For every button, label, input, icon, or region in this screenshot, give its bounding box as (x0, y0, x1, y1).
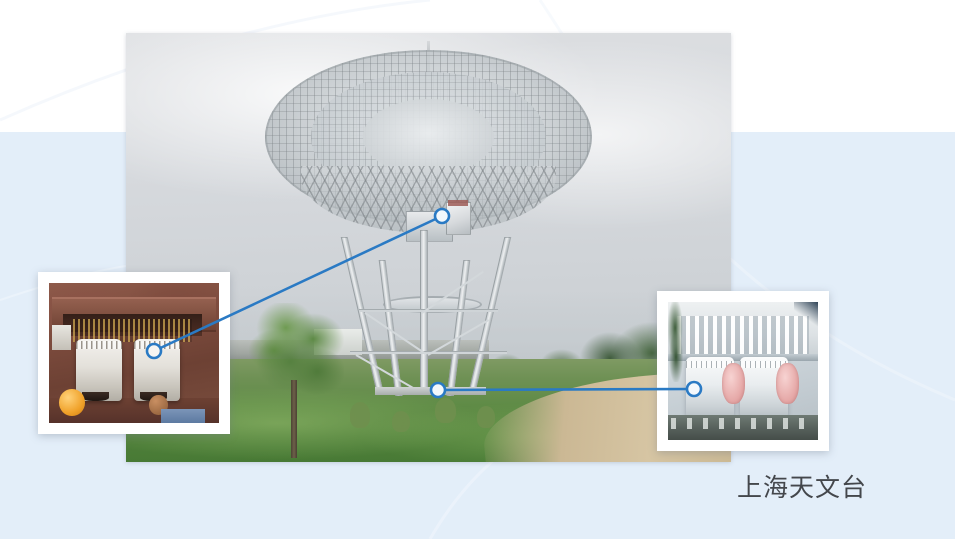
tower-leg (468, 237, 512, 395)
orange-object (59, 389, 85, 416)
telescope-support-tower (326, 230, 532, 393)
inset-left-image (49, 283, 219, 423)
drum-bolt-band (134, 341, 180, 349)
worker-body (161, 409, 205, 423)
tower-leg (447, 260, 470, 396)
inset-right-image (668, 302, 818, 440)
tower-base-pad (375, 387, 486, 395)
drum-nose (82, 392, 110, 401)
inset-photo-left (38, 272, 230, 434)
base-bolt-row (671, 418, 815, 429)
inset-photo-right (657, 291, 829, 451)
lawn-shrub (477, 406, 495, 427)
drive-drum (76, 339, 122, 401)
machine-block (52, 325, 71, 350)
lawn-shrub (435, 398, 457, 424)
lawn-shrub (392, 411, 410, 432)
drive-drum (134, 339, 180, 401)
tower-leg (340, 237, 384, 395)
lawn-shrub (350, 402, 371, 428)
background-sky-corner (794, 302, 818, 327)
foreground-tree-trunk (291, 380, 296, 457)
photo-caption: 上海天文台 (737, 468, 867, 504)
pink-end-cap (722, 363, 745, 404)
background-foliage (668, 302, 685, 382)
tower-diagonal (356, 354, 418, 391)
slide-canvas: 上海天文台 (0, 0, 955, 539)
housing-fins (677, 316, 809, 355)
drum-bolt-band (76, 341, 122, 349)
feed-cabin-accent (448, 200, 468, 207)
pink-end-cap (776, 363, 799, 404)
dish-core (363, 99, 494, 175)
